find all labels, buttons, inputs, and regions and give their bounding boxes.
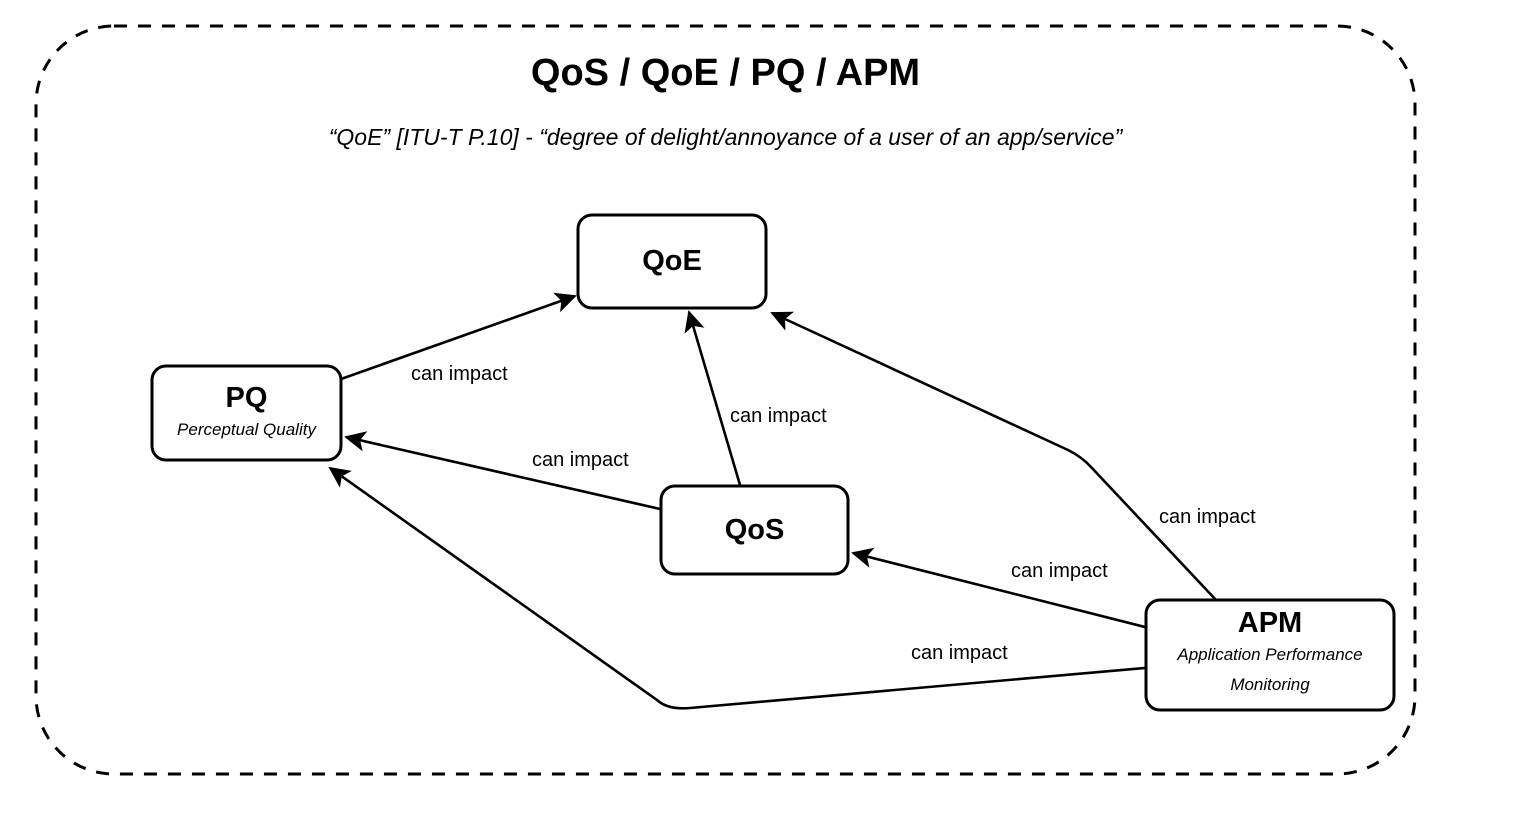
- diagram-canvas: QoS / QoE / PQ / APM “QoE” [ITU-T P.10] …: [0, 0, 1529, 817]
- node-box-qos[interactable]: [661, 486, 848, 574]
- edge-label-apm-to-qoe: can impact: [1159, 506, 1256, 529]
- node-box-apm[interactable]: [1146, 600, 1394, 710]
- node-box-pq[interactable]: [152, 366, 341, 460]
- edge-label-qos-to-pq: can impact: [532, 449, 629, 472]
- node-box-qoe[interactable]: [578, 215, 766, 308]
- edge-qos-to-qoe: [689, 312, 740, 485]
- edge-label-qos-to-qoe: can impact: [730, 405, 827, 428]
- edge-label-apm-to-qos: can impact: [1011, 560, 1108, 583]
- edge-label-apm-to-pq: can impact: [911, 642, 1008, 665]
- page-title: QoS / QoE / PQ / APM: [36, 52, 1415, 95]
- edge-qos-to-pq: [346, 437, 660, 509]
- edge-label-pq-to-qoe: can impact: [411, 363, 508, 386]
- page-subtitle: “QoE” [ITU-T P.10] - “degree of delight/…: [36, 124, 1415, 151]
